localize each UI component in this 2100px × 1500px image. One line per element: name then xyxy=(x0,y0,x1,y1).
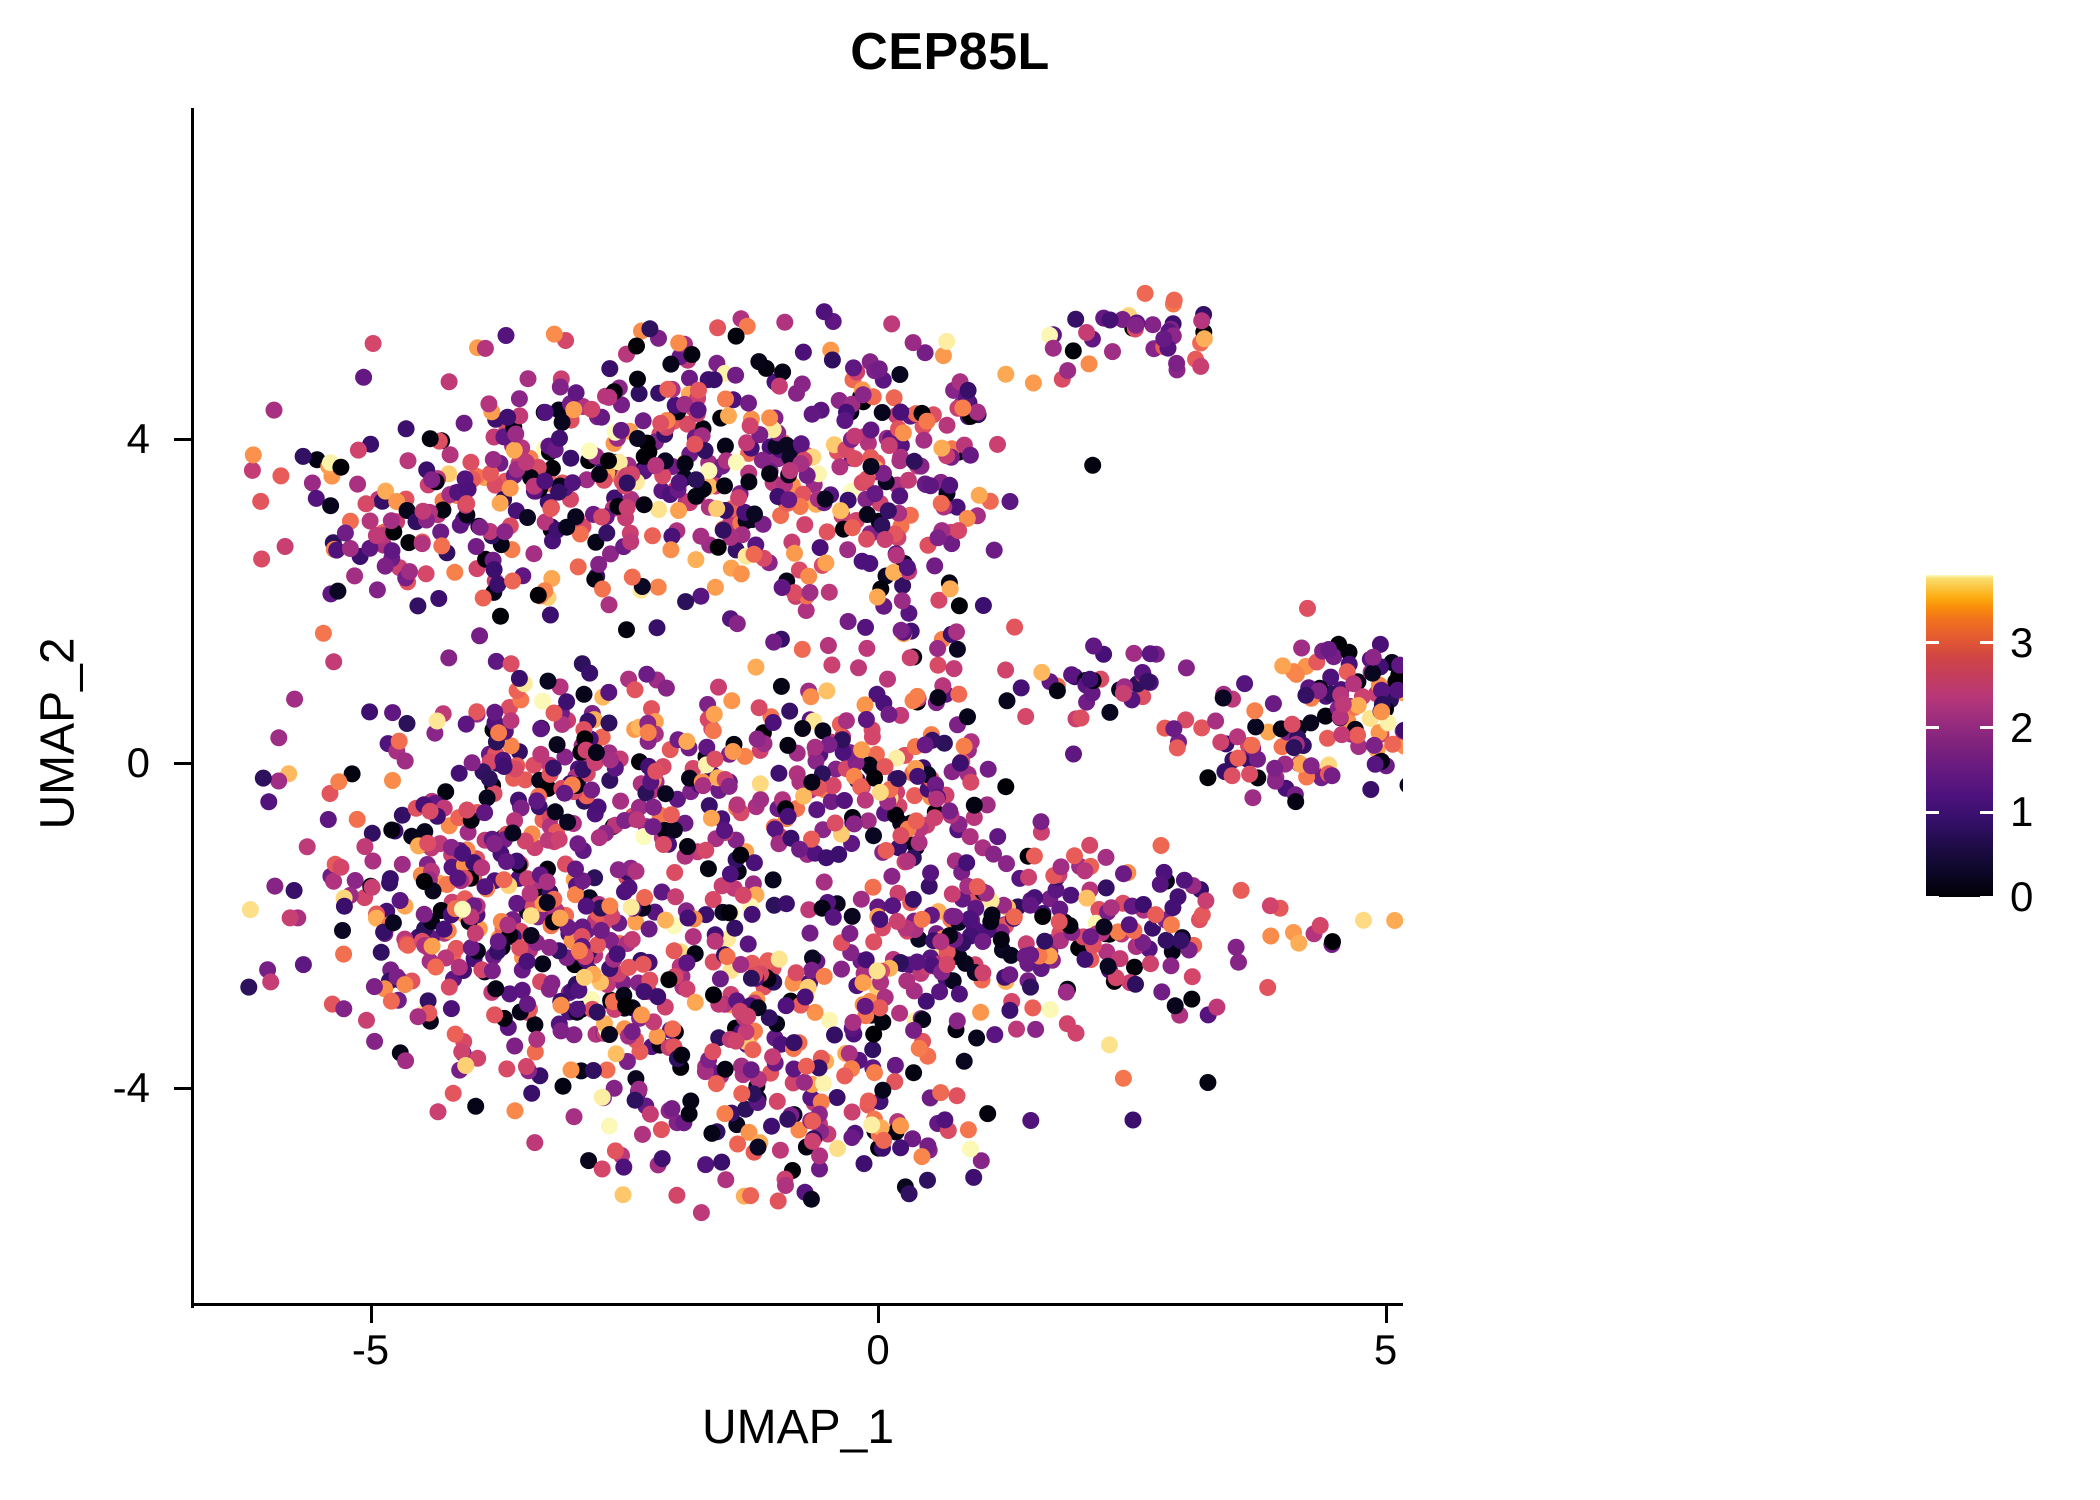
scatter-point xyxy=(489,576,506,593)
scatter-point xyxy=(563,1061,580,1078)
scatter-point xyxy=(1065,342,1082,359)
scatter-point xyxy=(705,722,722,739)
scatter-point xyxy=(373,944,390,961)
scatter-point xyxy=(667,888,684,905)
scatter-point xyxy=(721,904,738,921)
scatter-point xyxy=(697,842,714,859)
scatter-point xyxy=(543,975,560,992)
scatter-point xyxy=(1350,697,1367,714)
scatter-point xyxy=(816,968,833,985)
scatter-point xyxy=(1152,876,1169,893)
scatter-point xyxy=(825,909,842,926)
scatter-point xyxy=(1033,664,1050,681)
scatter-point xyxy=(926,557,943,574)
scatter-point xyxy=(423,471,440,488)
scatter-point xyxy=(1364,665,1381,682)
scatter-point xyxy=(860,812,877,829)
scatter-point xyxy=(520,370,537,387)
scatter-point xyxy=(906,453,923,470)
scatter-point xyxy=(818,682,835,699)
scatter-point xyxy=(477,878,494,895)
scatter-point xyxy=(892,827,909,844)
scatter-point xyxy=(744,906,761,923)
scatter-point xyxy=(740,936,757,953)
scatter-point xyxy=(962,1141,979,1158)
scatter-point xyxy=(874,404,891,421)
scatter-point xyxy=(686,436,703,453)
scatter-point xyxy=(965,1169,982,1186)
scatter-point xyxy=(980,761,997,778)
scatter-point xyxy=(794,376,811,393)
scatter-point xyxy=(845,359,862,376)
scatter-point xyxy=(361,703,378,720)
scatter-point xyxy=(989,436,1006,453)
scatter-point xyxy=(706,706,723,723)
y-tick-mark xyxy=(174,1087,191,1090)
scatter-point xyxy=(933,440,950,457)
scatter-point xyxy=(1384,736,1401,753)
scatter-point xyxy=(865,933,882,950)
scatter-point xyxy=(802,584,819,601)
scatter-point xyxy=(528,1031,545,1048)
scatter-point xyxy=(820,637,837,654)
scatter-point xyxy=(391,733,408,750)
scatter-point xyxy=(877,531,894,548)
scatter-point xyxy=(1183,991,1200,1008)
scatter-point xyxy=(725,743,742,760)
scatter-point xyxy=(1059,362,1076,379)
scatter-point xyxy=(1262,897,1279,914)
scatter-point xyxy=(1302,714,1319,731)
scatter-point xyxy=(286,691,303,708)
scatter-point xyxy=(786,1034,803,1051)
scatter-point xyxy=(581,665,598,682)
scatter-point xyxy=(558,519,575,536)
scatter-point xyxy=(857,696,874,713)
scatter-point xyxy=(335,1000,352,1017)
scatter-point xyxy=(939,417,956,434)
scatter-point xyxy=(779,1111,796,1128)
scatter-point xyxy=(1026,848,1043,865)
scatter-point xyxy=(840,613,857,630)
scatter-point xyxy=(484,962,501,979)
scatter-point xyxy=(1345,675,1362,692)
scatter-point xyxy=(569,835,586,852)
scatter-point xyxy=(658,680,675,697)
scatter-point xyxy=(650,579,667,596)
scatter-point xyxy=(1166,292,1183,309)
scatter-point xyxy=(272,467,289,484)
scatter-point xyxy=(807,1004,824,1021)
scatter-point xyxy=(526,1016,543,1033)
scatter-point xyxy=(1098,849,1115,866)
scatter-point xyxy=(1125,1112,1142,1129)
scatter-point xyxy=(752,775,769,792)
scatter-point xyxy=(1229,728,1246,745)
scatter-point xyxy=(846,815,863,832)
scatter-point xyxy=(600,452,617,469)
scatter-point xyxy=(601,898,618,915)
scatter-point xyxy=(729,615,746,632)
scatter-point xyxy=(410,1008,427,1025)
scatter-point xyxy=(598,525,615,542)
scatter-point xyxy=(710,679,727,696)
scatter-point xyxy=(887,1057,904,1074)
scatter-point xyxy=(879,671,896,688)
scatter-point xyxy=(490,933,507,950)
scatter-point xyxy=(931,983,948,1000)
scatter-point xyxy=(751,699,768,716)
scatter-point xyxy=(1104,343,1121,360)
scatter-point xyxy=(989,828,1006,845)
scatter-point xyxy=(1303,757,1320,774)
scatter-point xyxy=(854,553,871,570)
umap-plot-figure: CEP85L -404 -505 UMAP_2 UMAP_1 0123 xyxy=(0,0,2100,1500)
scatter-point xyxy=(807,739,824,756)
scatter-point xyxy=(844,1104,861,1121)
scatter-point xyxy=(649,619,666,636)
scatter-point xyxy=(436,921,453,938)
scatter-point xyxy=(859,506,876,523)
scatter-point xyxy=(518,454,535,471)
scatter-point xyxy=(1001,966,1018,983)
scatter-point xyxy=(1259,979,1276,996)
scatter-point xyxy=(329,583,346,600)
scatter-point xyxy=(763,1118,780,1135)
scatter-point xyxy=(808,801,825,818)
scatter-point xyxy=(511,390,528,407)
scatter-point xyxy=(1400,777,1404,794)
scatter-point xyxy=(952,755,969,772)
scatter-point xyxy=(1335,696,1352,713)
scatter-point xyxy=(522,885,539,902)
scatter-point xyxy=(930,529,947,546)
scatter-point xyxy=(1367,756,1384,773)
scatter-point xyxy=(358,495,375,512)
scatter-point xyxy=(794,641,811,658)
y-tick-mark xyxy=(174,438,191,441)
scatter-point xyxy=(687,551,704,568)
scatter-point xyxy=(332,859,349,876)
scatter-point xyxy=(1158,932,1175,949)
scatter-point xyxy=(394,856,411,873)
scatter-point xyxy=(447,1026,464,1043)
scatter-point xyxy=(922,865,939,882)
scatter-point xyxy=(959,708,976,725)
scatter-point xyxy=(708,500,725,517)
scatter-point xyxy=(692,528,709,545)
colorbar-tick-label: 1 xyxy=(2010,788,2033,836)
scatter-point xyxy=(593,509,610,526)
scatter-point xyxy=(938,333,955,350)
scatter-point xyxy=(621,879,638,896)
scatter-point xyxy=(464,754,481,771)
scatter-point xyxy=(778,997,795,1014)
scatter-point xyxy=(905,1022,922,1039)
scatter-point xyxy=(1293,640,1310,657)
scatter-point xyxy=(642,1106,659,1123)
scatter-point xyxy=(819,523,836,540)
scatter-point xyxy=(476,804,493,821)
scatter-point xyxy=(559,814,576,831)
scatter-point xyxy=(618,621,635,638)
scatter-point xyxy=(655,836,672,853)
scatter-point xyxy=(960,382,977,399)
scatter-point xyxy=(1020,869,1037,886)
scatter-point xyxy=(1077,951,1094,968)
scatter-point xyxy=(471,627,488,644)
scatter-point xyxy=(1165,720,1182,737)
scatter-point xyxy=(441,979,458,996)
scatter-point xyxy=(855,386,872,403)
scatter-point xyxy=(666,942,683,959)
x-tick-label: 5 xyxy=(1316,1326,1456,1374)
scatter-point xyxy=(972,1004,989,1021)
scatter-point xyxy=(948,623,965,640)
scatter-point xyxy=(1101,704,1118,721)
scatter-point xyxy=(266,402,283,419)
scatter-point xyxy=(892,1117,909,1134)
scatter-point xyxy=(335,946,352,963)
scatter-point xyxy=(480,395,497,412)
scatter-point xyxy=(1142,955,1159,972)
scatter-point xyxy=(1115,1070,1132,1087)
scatter-point xyxy=(638,666,655,683)
scatter-point xyxy=(1274,657,1291,674)
scatter-point xyxy=(1266,760,1283,777)
scatter-point xyxy=(677,593,694,610)
scatter-point xyxy=(804,1133,821,1150)
scatter-point xyxy=(518,1058,535,1075)
scatter-point xyxy=(778,895,795,912)
scatter-point xyxy=(889,913,906,930)
scatter-point xyxy=(555,1078,572,1095)
scatter-point xyxy=(875,1132,892,1149)
scatter-point xyxy=(739,1008,756,1025)
scatter-point xyxy=(894,592,911,609)
scatter-point xyxy=(540,673,557,690)
scatter-point xyxy=(788,964,805,981)
scatter-point xyxy=(647,457,664,474)
scatter-point xyxy=(733,565,750,582)
scatter-point xyxy=(703,810,720,827)
scatter-point xyxy=(486,1006,503,1023)
scatter-point xyxy=(382,870,399,887)
scatter-point xyxy=(1027,1021,1044,1038)
scatter-point xyxy=(930,689,947,706)
scatter-point xyxy=(526,1134,543,1151)
scatter-point xyxy=(662,356,679,373)
x-tick-label: 0 xyxy=(808,1326,948,1374)
scatter-point xyxy=(1164,899,1181,916)
scatter-point xyxy=(905,334,922,351)
scatter-point xyxy=(615,1186,632,1203)
scatter-point xyxy=(666,822,683,839)
scatter-point xyxy=(997,662,1014,679)
scatter-point xyxy=(486,835,503,852)
scatter-point xyxy=(930,657,947,674)
scatter-point xyxy=(350,442,367,459)
scatter-point xyxy=(844,908,861,925)
scatter-point xyxy=(1078,890,1095,907)
scatter-point xyxy=(865,879,882,896)
scatter-point xyxy=(941,477,958,494)
scatter-point xyxy=(690,382,707,399)
scatter-point xyxy=(1081,355,1098,372)
scatter-point xyxy=(640,724,657,741)
scatter-point xyxy=(1051,913,1068,930)
scatter-point xyxy=(553,1022,570,1039)
scatter-point xyxy=(914,911,931,928)
scatter-point xyxy=(1058,984,1075,1001)
scatter-point xyxy=(729,796,746,813)
scatter-point xyxy=(1033,813,1050,830)
scatter-point xyxy=(1036,933,1053,950)
scatter-point xyxy=(260,793,277,810)
scatter-point xyxy=(266,878,283,895)
x-tick-mark xyxy=(1385,1306,1388,1323)
scatter-point xyxy=(657,912,674,929)
scatter-point xyxy=(1299,600,1316,617)
scatter-point xyxy=(1319,730,1336,747)
scatter-point xyxy=(979,1105,996,1122)
scatter-point xyxy=(392,892,409,909)
scatter-point xyxy=(883,868,900,885)
scatter-point xyxy=(856,1155,873,1172)
scatter-point xyxy=(846,428,863,445)
scatter-point xyxy=(706,371,723,388)
scatter-point xyxy=(498,327,515,344)
scatter-point xyxy=(863,1116,880,1133)
scatter-point xyxy=(418,565,435,582)
scatter-point xyxy=(657,785,674,802)
scatter-point xyxy=(496,758,513,775)
scatter-point xyxy=(1006,619,1023,636)
scatter-point xyxy=(1006,908,1023,925)
scatter-point xyxy=(871,999,888,1016)
scatter-point xyxy=(892,404,909,421)
scatter-points-layer xyxy=(193,108,1403,1305)
scatter-point xyxy=(823,657,840,674)
scatter-point xyxy=(532,746,549,763)
scatter-point xyxy=(735,887,752,904)
scatter-point xyxy=(901,1185,918,1202)
scatter-point xyxy=(732,847,749,864)
scatter-point xyxy=(713,1154,730,1171)
scatter-point xyxy=(556,785,573,802)
scatter-point xyxy=(1349,727,1366,744)
scatter-point xyxy=(932,1084,949,1101)
scatter-point xyxy=(1142,645,1159,662)
scatter-point xyxy=(905,692,922,709)
scatter-point xyxy=(612,793,629,810)
scatter-point xyxy=(330,773,347,790)
y-axis-label: UMAP_2 xyxy=(31,504,86,964)
scatter-point xyxy=(865,827,882,844)
scatter-point xyxy=(826,1027,843,1044)
scatter-point xyxy=(1059,1015,1076,1032)
scatter-point xyxy=(971,487,988,504)
scatter-point xyxy=(740,473,757,490)
scatter-point xyxy=(764,1048,781,1065)
scatter-point xyxy=(654,1150,671,1167)
scatter-point xyxy=(349,476,366,493)
scatter-point xyxy=(1178,659,1195,676)
scatter-point xyxy=(1199,769,1216,786)
scatter-point xyxy=(1128,317,1145,334)
scatter-point xyxy=(1169,739,1186,756)
scatter-point xyxy=(627,1092,644,1109)
scatter-point xyxy=(467,925,484,942)
scatter-point xyxy=(1199,1074,1216,1091)
scatter-point xyxy=(628,338,645,355)
scatter-point xyxy=(720,407,737,424)
colorbar-gradient xyxy=(1926,575,1993,897)
scatter-point xyxy=(958,854,975,871)
scatter-point xyxy=(774,579,791,596)
scatter-point xyxy=(349,811,366,828)
scatter-point xyxy=(652,415,669,432)
scatter-point xyxy=(645,818,662,835)
scatter-point xyxy=(944,886,961,903)
scatter-point xyxy=(565,401,582,418)
scatter-point xyxy=(773,678,790,695)
scatter-point xyxy=(546,326,563,343)
scatter-point xyxy=(850,659,867,676)
scatter-point xyxy=(536,473,553,490)
scatter-point xyxy=(777,1177,794,1194)
scatter-point xyxy=(539,894,556,911)
colorbar-tick-label: 0 xyxy=(2010,873,2033,921)
scatter-point xyxy=(874,1082,891,1099)
scatter-point xyxy=(911,1040,928,1057)
scatter-point xyxy=(534,955,551,972)
scatter-point xyxy=(286,882,303,899)
scatter-point xyxy=(733,1085,750,1102)
scatter-point xyxy=(1247,718,1264,735)
scatter-point xyxy=(262,973,279,990)
scatter-point xyxy=(1312,917,1329,934)
scatter-point xyxy=(1167,997,1184,1014)
scatter-point xyxy=(771,951,788,968)
scatter-point xyxy=(707,933,724,950)
scatter-point xyxy=(1236,675,1253,692)
scatter-point xyxy=(863,458,880,475)
colorbar-tick-mark xyxy=(1980,896,1993,899)
scatter-point xyxy=(803,774,820,791)
scatter-point xyxy=(878,842,895,859)
scatter-point xyxy=(1386,912,1403,929)
scatter-point xyxy=(270,729,287,746)
scatter-point xyxy=(1049,682,1066,699)
scatter-point xyxy=(933,495,950,512)
colorbar-tick-mark xyxy=(1926,726,1939,729)
scatter-point xyxy=(511,670,528,687)
scatter-point xyxy=(900,472,917,489)
scatter-point xyxy=(740,395,757,412)
scatter-point xyxy=(913,1148,930,1165)
scatter-point xyxy=(728,328,745,345)
scatter-point xyxy=(909,768,926,785)
scatter-point xyxy=(982,913,999,930)
scatter-point xyxy=(962,447,979,464)
scatter-point xyxy=(424,938,441,955)
scatter-point xyxy=(742,1187,759,1204)
scatter-point xyxy=(683,346,700,363)
scatter-point xyxy=(892,1139,909,1156)
scatter-point xyxy=(325,653,342,670)
scatter-point xyxy=(956,1053,973,1070)
